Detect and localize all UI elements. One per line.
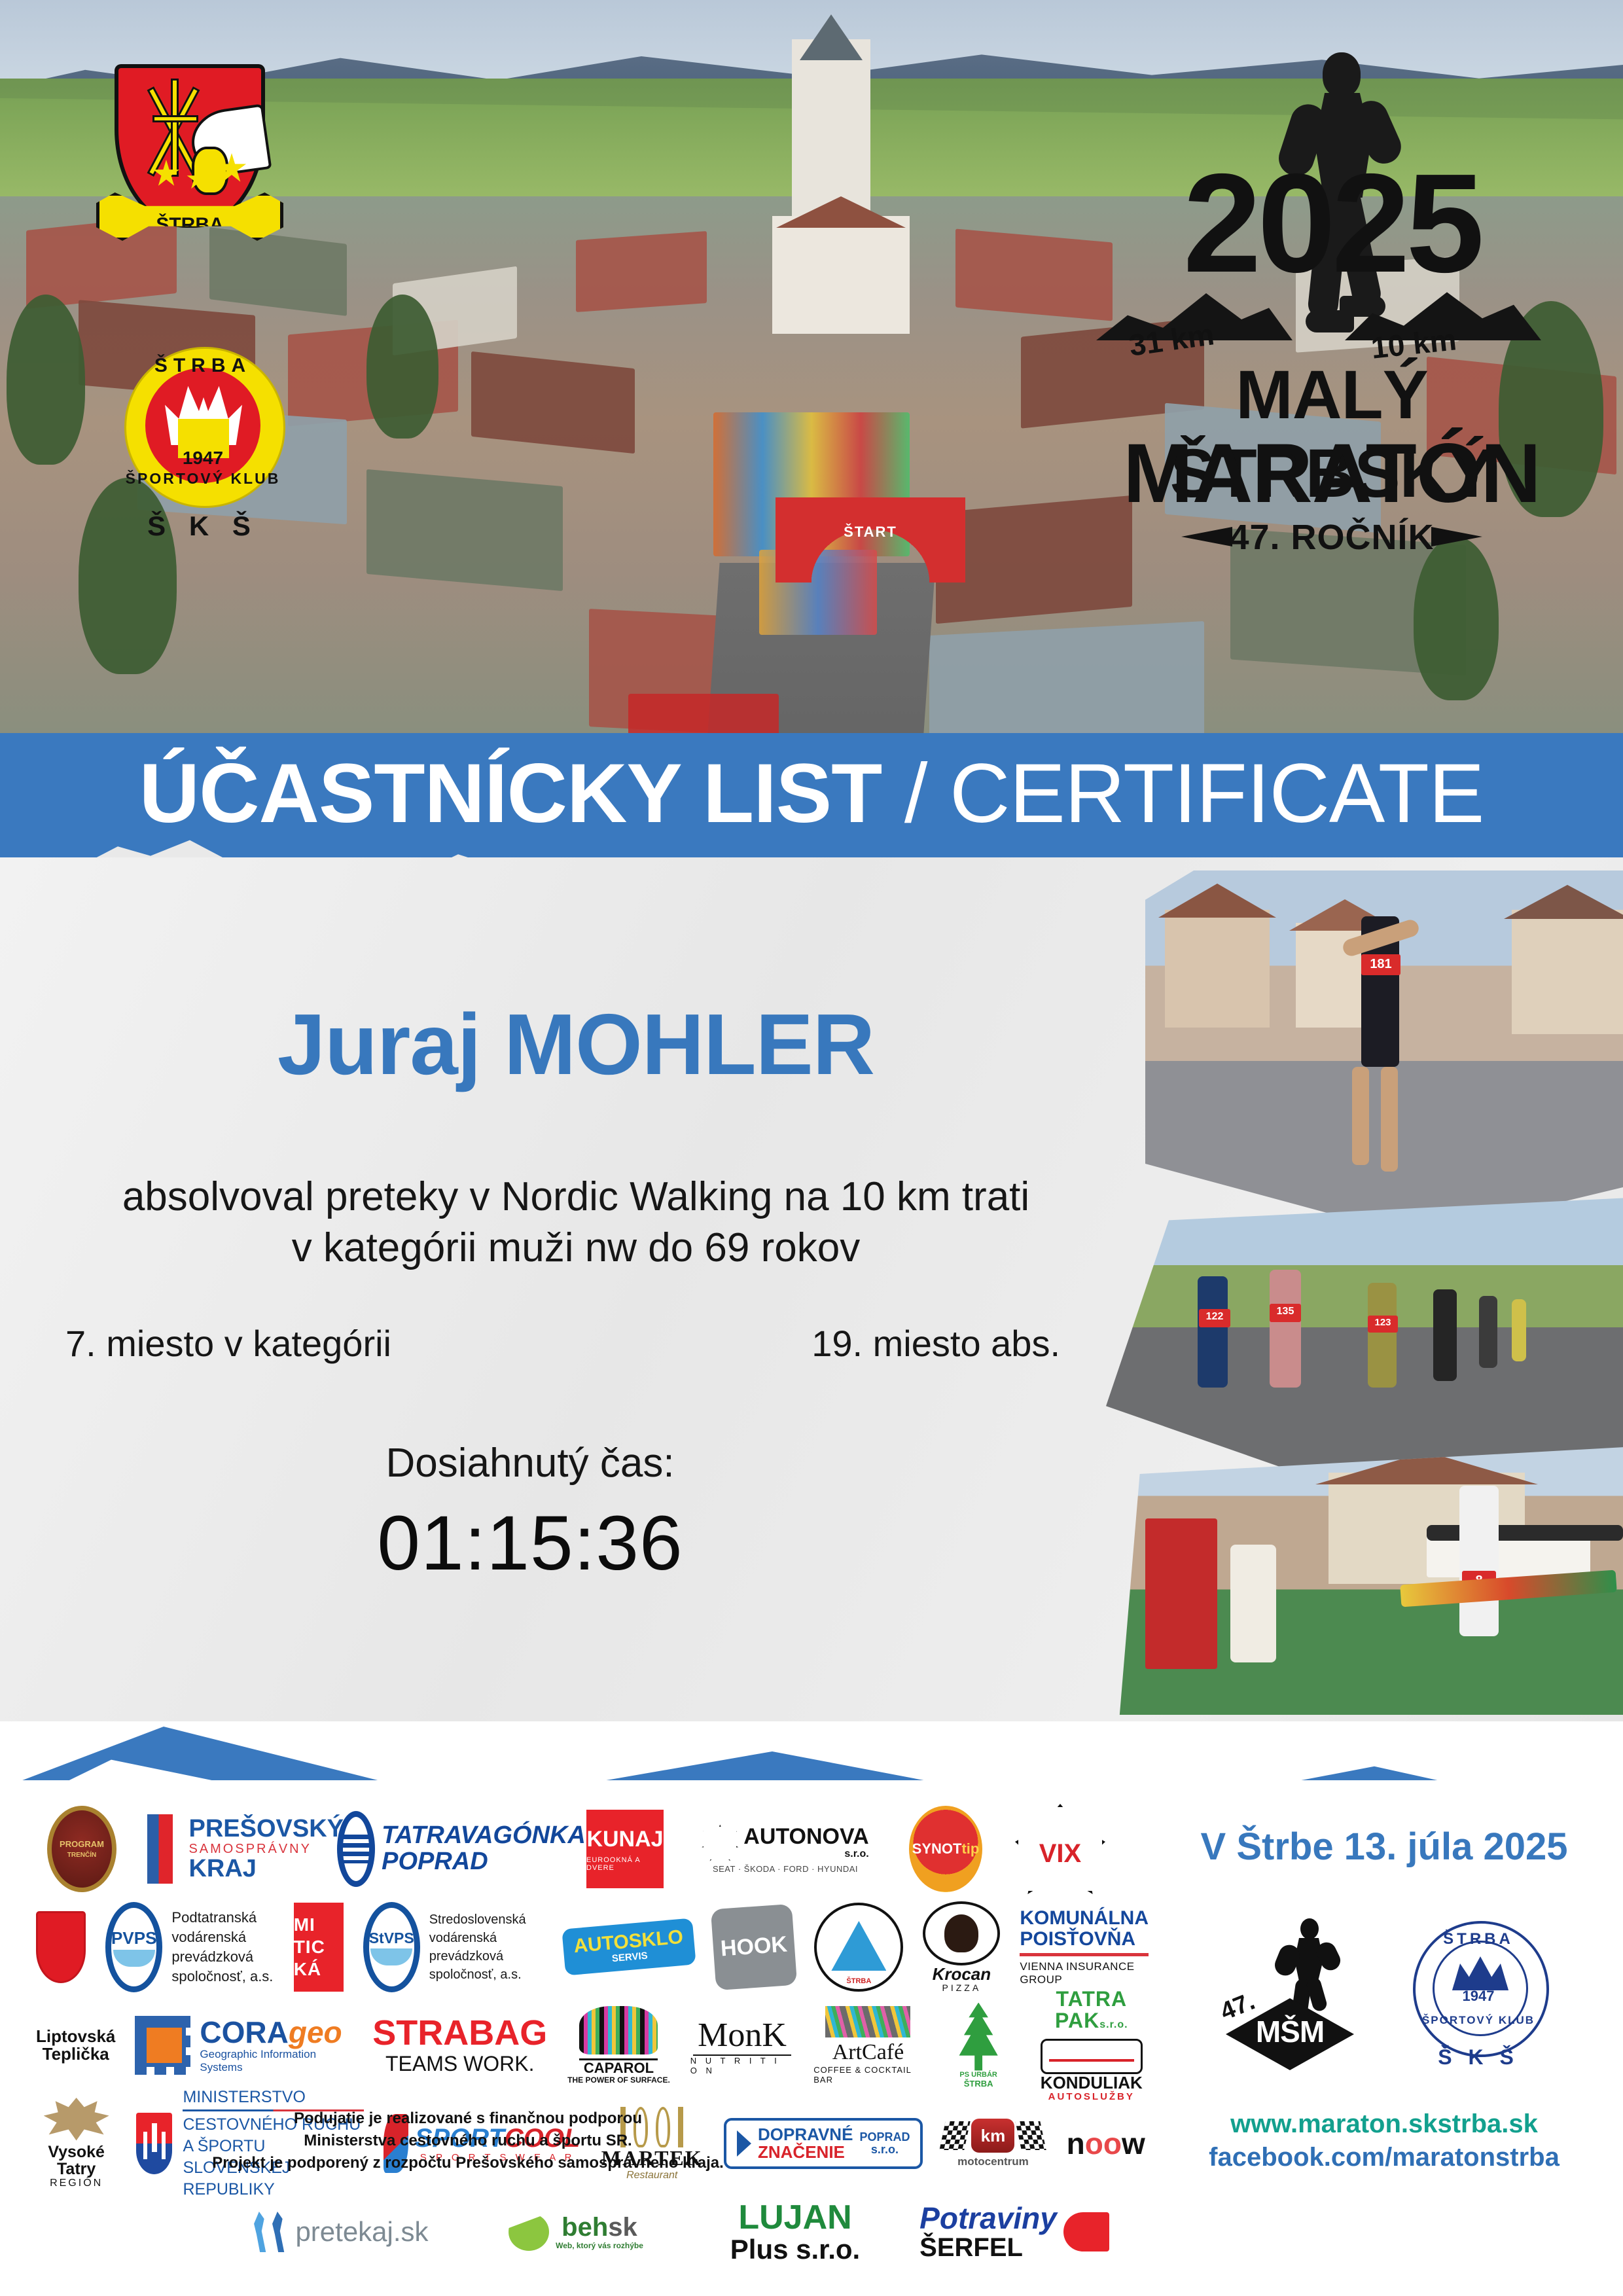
sponsor-sublabel2: KRAJ [188, 1856, 344, 1882]
sponsor-km-motocentrum[interactable]: km motocentrum [942, 2098, 1043, 2189]
sponsor-sublabel: ŠTRBA [964, 2079, 993, 2089]
certificate-description: absolvoval preteky v Nordic Walking na 1… [39, 1172, 1113, 1274]
sponsor-sublabel2: prevádzková spoločnosť, a.s. [429, 1947, 544, 1984]
water-wave-icon [113, 1950, 155, 1967]
sponsor-hook[interactable]: HOOK [713, 1901, 794, 1993]
sponsor-label: Krocan [933, 1965, 991, 1983]
sponsor-label: CORA [200, 2015, 288, 2049]
placement-row: 7. miesto v kategórii 19. miesto abs. [65, 1322, 1099, 1365]
sponsor-label: MINISTERSTVO [183, 2087, 364, 2108]
title-band: ÚČASTNÍCKY LIST / CERTIFICATE [0, 733, 1623, 857]
sponsor-caparol[interactable]: CAPAROL THE POWER OF SURFACE. [567, 2000, 671, 2091]
rooftop [366, 469, 563, 591]
runner-figure [1433, 1289, 1457, 1381]
stamp-top-text: ŠTRBA [1413, 1930, 1544, 1948]
sponsor-sublabel: ŠTRBA [846, 1977, 871, 1985]
sponsor-sublabel: geo [289, 2015, 342, 2049]
rooftop [576, 231, 707, 312]
sponsor-label: KOMUNÁLNA [1020, 1908, 1149, 1929]
runner-leg [1352, 1067, 1369, 1165]
event-edition: 47. ROČNÍK [1083, 517, 1580, 558]
event-name-line2: MARATÓN [1083, 425, 1580, 522]
sponsor-sublabel: Plus s.r.o. [730, 2235, 860, 2264]
sponsor-sublabel: ŠERFEL [919, 2234, 1057, 2261]
sponsor-label: beh [562, 2213, 608, 2242]
funding-note-line-1: Podujatie je realizované s finančnou pod… [59, 2108, 877, 2130]
time-label: Dosiahnutý čas: [39, 1440, 1021, 1486]
sponsor-stvps[interactable]: StVPS Stredoslovenská vodárenská prevádz… [363, 1901, 544, 1993]
sponsor-label: LUJAN [738, 2200, 851, 2236]
program-trencin-badge: PROGRAM TRENČÍN [47, 1806, 116, 1892]
sponsor-miticka[interactable]: MI TIC KÁ [294, 1901, 344, 1993]
tree [366, 295, 438, 439]
sponsor-logos: PROGRAM TRENČÍN PREŠOVSKÝ SAMOSPRÁVNY KR… [36, 1800, 1149, 2271]
bib-number: 135 [1270, 1304, 1301, 1322]
sponsor-label: CAPAROL [584, 2060, 654, 2075]
corageo-grid-icon [135, 2016, 190, 2075]
stvps-logo: StVPS [363, 1902, 420, 1992]
certificate-page: ŠTART ŠTRBA ŠTRBA 1947 ŠPORTOVÝ KLUB Š K… [0, 0, 1623, 2296]
strba-coat-of-arms: ŠTRBA [115, 64, 265, 241]
runner-figure [1270, 1270, 1301, 1388]
sponsor-sublabel: Teplička [43, 2045, 109, 2063]
runner-leg [1305, 1976, 1328, 2013]
sponsor-liptovska-teplicka[interactable] [36, 1901, 86, 1993]
winner-figure [1459, 1486, 1499, 1636]
stamp-year: 1947 [1433, 1988, 1524, 2005]
tree [7, 295, 85, 465]
page-title: ÚČASTNÍCKY LIST / CERTIFICATE [0, 745, 1623, 843]
kunaj-box: KUNAJ EUROOKNÁ A DVERE [586, 1810, 664, 1888]
sponsor-label: VIX [1039, 1840, 1081, 1867]
funding-note-line-3: Projekt je podporený z rozpočtu Prešovsk… [59, 2152, 877, 2174]
sponsor-label: KUNAJ [586, 1827, 663, 1852]
distance-row: 31 km 10 km [1083, 288, 1580, 360]
participant-name: Juraj MOHLER [39, 995, 1113, 1094]
sponsor-row-5: pretekaj.sk behsk Web, ktorý vás rozhýbe… [232, 2193, 1149, 2271]
water-drop-icon [831, 1921, 886, 1971]
sponsor-label: SYNOT [912, 1840, 962, 1857]
church-nave [772, 216, 910, 334]
sponsor-tatravagonka[interactable]: TATRAVAGÓNKA POPRAD [363, 1803, 560, 1895]
inflatable-arch [1145, 1518, 1217, 1669]
krocan-turkey-icon [923, 1901, 1000, 1965]
sponsor-label: Liptovská [36, 2028, 115, 2045]
sponsor-label: MI TIC KÁ [294, 1914, 344, 1981]
tatravagonka-icon [337, 1811, 375, 1887]
sponsor-sublabel: s.r.o. [743, 1849, 868, 1860]
golden-cross-staff [171, 79, 179, 177]
liptovska-teplicka-shield [36, 1911, 86, 1983]
sponsor-program-trencin[interactable]: PROGRAM TRENČÍN [36, 1803, 128, 1895]
stamp-ring-text: ŠPORTOVÝ KLUB [1413, 2014, 1544, 2027]
rooftop [471, 351, 635, 454]
sponsor-sublabel2: VIENNA INSURANCE GROUP [1020, 1960, 1149, 1986]
vix-star: VIX [1015, 1804, 1105, 1894]
sponsor-sublabel: Podtatranská vodárenská [171, 1908, 274, 1947]
photo-course-runners: 122 135 123 [1106, 1198, 1623, 1479]
place-absolute: 19. miesto abs. [811, 1322, 1099, 1365]
sponsor-sublabel2: Geographic Information Systems [200, 2048, 353, 2074]
sponsor-tatrapak[interactable]: TATRA PAKs.r.o. KONDULIAK AUTOSLUŽBY [1035, 2000, 1149, 2091]
bib-number: 181 [1361, 954, 1400, 975]
sponsor-sublabel: SAMOSPRÁVNY [188, 1842, 344, 1856]
sponsor-row-2: PVPS Podtatranská vodárenská prevádzková… [36, 1898, 1149, 1996]
web-links: www.maraton.skstrba.sk facebook.com/mara… [1171, 2109, 1597, 2172]
psk-flag-icon [147, 1814, 173, 1884]
footer: PROGRAM TRENČÍN PREŠOVSKÝ SAMOSPRÁVNY KR… [0, 1780, 1623, 2296]
sponsor-sublabel: TRENČÍN [67, 1852, 96, 1859]
sponsor-ps-urbar-strba[interactable]: PS URBÁR ŠTRBA [942, 2000, 1015, 2091]
house-roof [1504, 885, 1623, 919]
sks-club-logo: ŠTRBA 1947 ŠPORTOVÝ KLUB Š K Š [118, 335, 288, 561]
sponsor-label: KONDULIAK [1041, 2074, 1143, 2092]
sponsor-label: PREŠOVSKÝ [188, 1816, 344, 1842]
sponsor-pvps[interactable]: PVPS Podtatranská vodárenská prevádzková… [105, 1901, 274, 1993]
msm-abbr: MŠM [1226, 2014, 1354, 2049]
sponsor-komunalna-poistovna[interactable]: KOMUNÁLNA POISŤOVŇA VIENNA INSURANCE GRO… [1020, 1901, 1149, 1993]
event-date: V Štrbe 13. júla 2025 [1171, 1825, 1597, 1869]
sponsor-sublabel: s.r.o. [1099, 2019, 1128, 2030]
description-line-1: absolvoval preteky v Nordic Walking na 1… [39, 1172, 1113, 1223]
start-arch-label: ŠTART [811, 524, 929, 541]
sponsor-monk-nutrition[interactable]: MonK N U T R I T I O N [690, 2000, 794, 2091]
sponsor-label: AUTONOVA [743, 1825, 868, 1849]
konduliak-car-icon [1041, 2039, 1143, 2074]
hook-box: HOOK [711, 1904, 797, 1990]
sponsor-sublabel: COFFEE & COCKTAIL BAR [813, 2065, 922, 2085]
club-year: 1947 [145, 448, 260, 469]
sponsor-label: PROGRAM [60, 1839, 104, 1849]
house-roof [1158, 884, 1276, 918]
runner-leg [1381, 1067, 1398, 1172]
sponsor-pd-strba[interactable]: ŠTRBA [814, 1901, 903, 1993]
folk-costume-girl [1230, 1545, 1276, 1662]
runner-figure [1198, 1276, 1228, 1388]
sponsor-krocan-pizza[interactable]: Krocan PIZZA [923, 1901, 1000, 1993]
sponsor-sublabel: PIZZA [942, 1983, 982, 1993]
sponsor-vix[interactable]: VIX [1011, 1803, 1109, 1895]
sponsor-sublabel: tip [961, 1840, 979, 1857]
event-logo: 2025 31 km 10 km MALÝ ŠTRBSKÝ MARATÓN 47… [1083, 33, 1580, 609]
sponsor-kunaj[interactable]: KUNAJ EUROOKNÁ A DVERE [579, 1803, 671, 1895]
place-in-category: 7. miesto v kategórii [65, 1322, 391, 1365]
runner-figure [1479, 1296, 1497, 1368]
sponsor-artcafe[interactable]: ArtCafé COFFEE & COCKTAIL BAR [813, 2000, 922, 2091]
water-wave-icon [370, 1948, 412, 1965]
runner-head [1300, 1918, 1319, 1939]
sponsor-sublabel: Stredoslovenská vodárenská [429, 1910, 544, 1947]
club-abbr: Š K Š [124, 511, 281, 542]
title-sk: ÚČASTNÍCKY LIST [139, 747, 882, 840]
title-en: / CERTIFICATE [882, 747, 1484, 840]
description-line-2: v kategórii muži nw do 69 rokov [39, 1223, 1113, 1274]
bib-number: 122 [1199, 1309, 1230, 1327]
beh-swoosh-icon [508, 2213, 549, 2251]
funding-note: Podujatie je realizované s finančnou pod… [59, 2108, 877, 2174]
sponsor-sublabel: POISŤOVŇA [1020, 1929, 1149, 1950]
funding-note-line-2: Ministerstva cestovného ruchu a športu S… [59, 2130, 877, 2152]
sks-stamp: ŠTRBA 1947 ŠPORTOVÝ KLUB Š K Š [1404, 1914, 1554, 2078]
sponsor-label: PVPS [111, 1928, 156, 1948]
sponsor-sublabel: motocentrum [957, 2155, 1029, 2168]
house [1512, 910, 1623, 1034]
sponsor-brands: SEAT · ŠKODA · FORD · HYUNDAI [713, 1864, 858, 1874]
sponsor-behsk[interactable]: behsk Web, ktorý vás rozhýbe [468, 2186, 684, 2278]
spruce-tree-icon [954, 2003, 1003, 2071]
club-bottom-text: ŠPORTOVÝ KLUB [124, 470, 281, 488]
sponsor-label: pretekaj.sk [295, 2216, 428, 2248]
miticka-box: MI TIC KÁ [294, 1903, 344, 1992]
sponsor-sublabel2: prevádzková spoločnosť, a.s. [171, 1947, 274, 1986]
checkered-flag-icon [1016, 2121, 1046, 2150]
sponsor-row-3: Liptovská Teplička CORAgeo Geographic In… [36, 1996, 1149, 2094]
pvps-logo: PVPS [105, 1902, 162, 1992]
runner-figure [1512, 1299, 1526, 1361]
sponsor-sublabel: TEAMS WORK. [385, 2052, 535, 2076]
synottip-oval: SYNOTtip [909, 1806, 982, 1892]
time-value: 01:15:36 [39, 1499, 1021, 1588]
sponsor-potraviny-serfel[interactable]: Potraviny ŠERFEL [906, 2186, 1122, 2278]
sponsor-sublabel2: Web, ktorý vás rozhýbe [556, 2241, 643, 2250]
sponsor-label: ArtCafé [832, 2040, 904, 2065]
sponsor-sublabel: N U T R I T I O N [690, 2056, 794, 2075]
sponsor-label: PS URBÁR [959, 2071, 997, 2079]
sponsor-row-1: PROGRAM TRENČÍN PREŠOVSKÝ SAMOSPRÁVNY KR… [36, 1800, 1149, 1898]
autonova-star-icon [702, 1825, 738, 1861]
sponsor-lujan-plus[interactable]: LUJAN Plus s.r.o. [704, 2186, 887, 2278]
sponsor-label: km [971, 2119, 1014, 2153]
tent-red [628, 694, 779, 733]
photo-finish-line: 8 [1119, 1446, 1623, 1715]
caparol-elephant-icon [579, 2006, 658, 2054]
sponsor-synottip[interactable]: SYNOTtip [900, 1803, 991, 1895]
cross-bar [152, 115, 198, 122]
serfel-dots-icon [1063, 2212, 1109, 2251]
stamp-abbr: Š K Š [1413, 2045, 1544, 2070]
rooftop [929, 621, 1204, 733]
sponsor-autonova[interactable]: AUTONOVA s.r.o. SEAT · ŠKODA · FORD · HY… [690, 1803, 880, 1895]
sponsor-sublabel: THE POWER OF SURFACE. [567, 2075, 670, 2085]
spectator-row [1427, 1525, 1623, 1541]
sponsor-sublabel: EUROOKNÁ A DVERE [586, 1856, 664, 1872]
sponsor-strabag[interactable]: STRABAG TEAMS WORK. [372, 2000, 547, 2091]
photo-finish-jump: 181 [1145, 870, 1623, 1237]
bib-number: 123 [1368, 1316, 1398, 1333]
sponsor-label: HOOK [720, 1933, 788, 1962]
sponsor-corageo[interactable]: CORAgeo Geographic Information Systems [135, 2000, 353, 2091]
facebook-link[interactable]: facebook.com/maratonstrba [1171, 2143, 1597, 2172]
checkered-flag-icon [940, 2121, 971, 2150]
sponsor-sublabel: REGIÓN [50, 2178, 103, 2189]
photo-collage: 181 122 135 123 8 [1106, 870, 1623, 1715]
artcafe-stripes-icon [825, 2006, 910, 2037]
crest-ribbon-text: ŠTRBA [99, 214, 280, 236]
house [1165, 910, 1270, 1028]
club-top-text: ŠTRBA [124, 355, 281, 377]
sponsor-label: Potraviny [919, 2202, 1057, 2234]
autosklo-box: AUTOSKLO SERVIS [562, 1918, 696, 1976]
sponsor-label: MonK [698, 2016, 787, 2054]
footer-stamps: 47. MŠM ŠTRBA 1947 ŠPORTOVÝ KLUB Š K Š [1171, 1914, 1597, 2078]
sponsor-pretekaj[interactable]: pretekaj.sk [232, 2186, 448, 2278]
msm-logo: 47. MŠM [1214, 1914, 1364, 2078]
sponsor-autosklo[interactable]: AUTOSKLO SERVIS [563, 1901, 694, 1993]
label-liptovska-teplicka: Liptovská Teplička [36, 2000, 115, 2091]
sponsor-sublabel: sk [608, 2213, 637, 2242]
pd-strba-seal: ŠTRBA [814, 1903, 903, 1992]
website-link[interactable]: www.maraton.skstrba.sk [1171, 2109, 1597, 2139]
runner-figure [1368, 1283, 1397, 1388]
runner-head [1323, 52, 1361, 97]
footer-right-column: V Štrbe 13. júla 2025 47. MŠM [1171, 1800, 1597, 2172]
sponsor-sublabel: POPRAD [382, 1849, 586, 1875]
runners-icon [252, 2212, 287, 2252]
sponsor-label: TATRAVAGÓNKA [382, 1823, 586, 1849]
sponsor-noow[interactable]: noow [1063, 2098, 1149, 2189]
sponsor-presovsky-kraj[interactable]: PREŠOVSKÝ SAMOSPRÁVNY KRAJ [147, 1803, 344, 1895]
sponsor-label: STRABAG [372, 2015, 547, 2052]
event-year: 2025 [1083, 164, 1580, 283]
sponsor-label: StVPS [369, 1929, 414, 1947]
